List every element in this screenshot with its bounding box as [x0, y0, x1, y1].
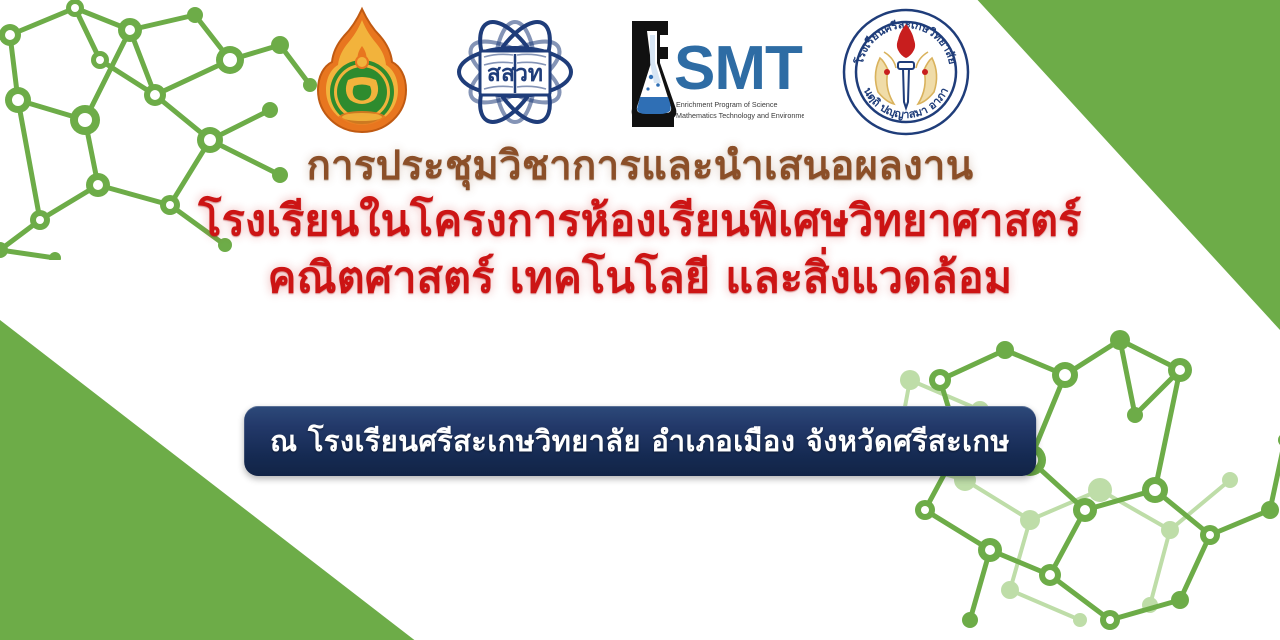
- headline-line-3: คณิตศาสตร์ เทคโนโลยี และสิ่งแวดล้อม: [0, 257, 1280, 300]
- ipst-logo-icon: สสวท: [452, 9, 578, 135]
- smte-logo-icon: SMTE Enrichment Program of Science Mathe…: [614, 13, 804, 131]
- svg-text:สสวท: สสวท: [487, 61, 543, 87]
- poster-headline: การประชุมวิชาการและนำเสนอผลงาน โรงเรียนใ…: [0, 146, 1280, 300]
- logo-row: สสวท SMTE Enrichment Program of Science …: [0, 4, 1280, 140]
- svg-text:Enrichment Program of Science: Enrichment Program of Science: [676, 100, 777, 109]
- svg-text:SMTE: SMTE: [674, 34, 804, 103]
- headline-line-1: การประชุมวิชาการและนำเสนอผลงาน: [0, 146, 1280, 186]
- conference-poster: สสวท SMTE Enrichment Program of Science …: [0, 0, 1280, 640]
- ministry-of-education-emblem-icon: [308, 6, 416, 138]
- headline-line-2: โรงเรียนในโครงการห้องเรียนพิเศษวิทยาศาสต…: [0, 200, 1280, 243]
- svg-text:Mathematics Technology and Env: Mathematics Technology and Environment: [676, 111, 804, 120]
- venue-text: ณ โรงเรียนศรีสะเกษวิทยาลัย อำเภอเมือง จั…: [270, 418, 1010, 464]
- green-wedge-bottom-left: [0, 320, 560, 640]
- venue-banner: ณ โรงเรียนศรีสะเกษวิทยาลัย อำเภอเมือง จั…: [244, 406, 1036, 476]
- molecule-pattern-bottom-right: [870, 320, 1280, 640]
- sisaket-wittayalai-school-seal-icon: โรงเรียนศรีสะเกษวิทยาลัย นตฺถิ ปญฺญาสมา …: [840, 6, 972, 138]
